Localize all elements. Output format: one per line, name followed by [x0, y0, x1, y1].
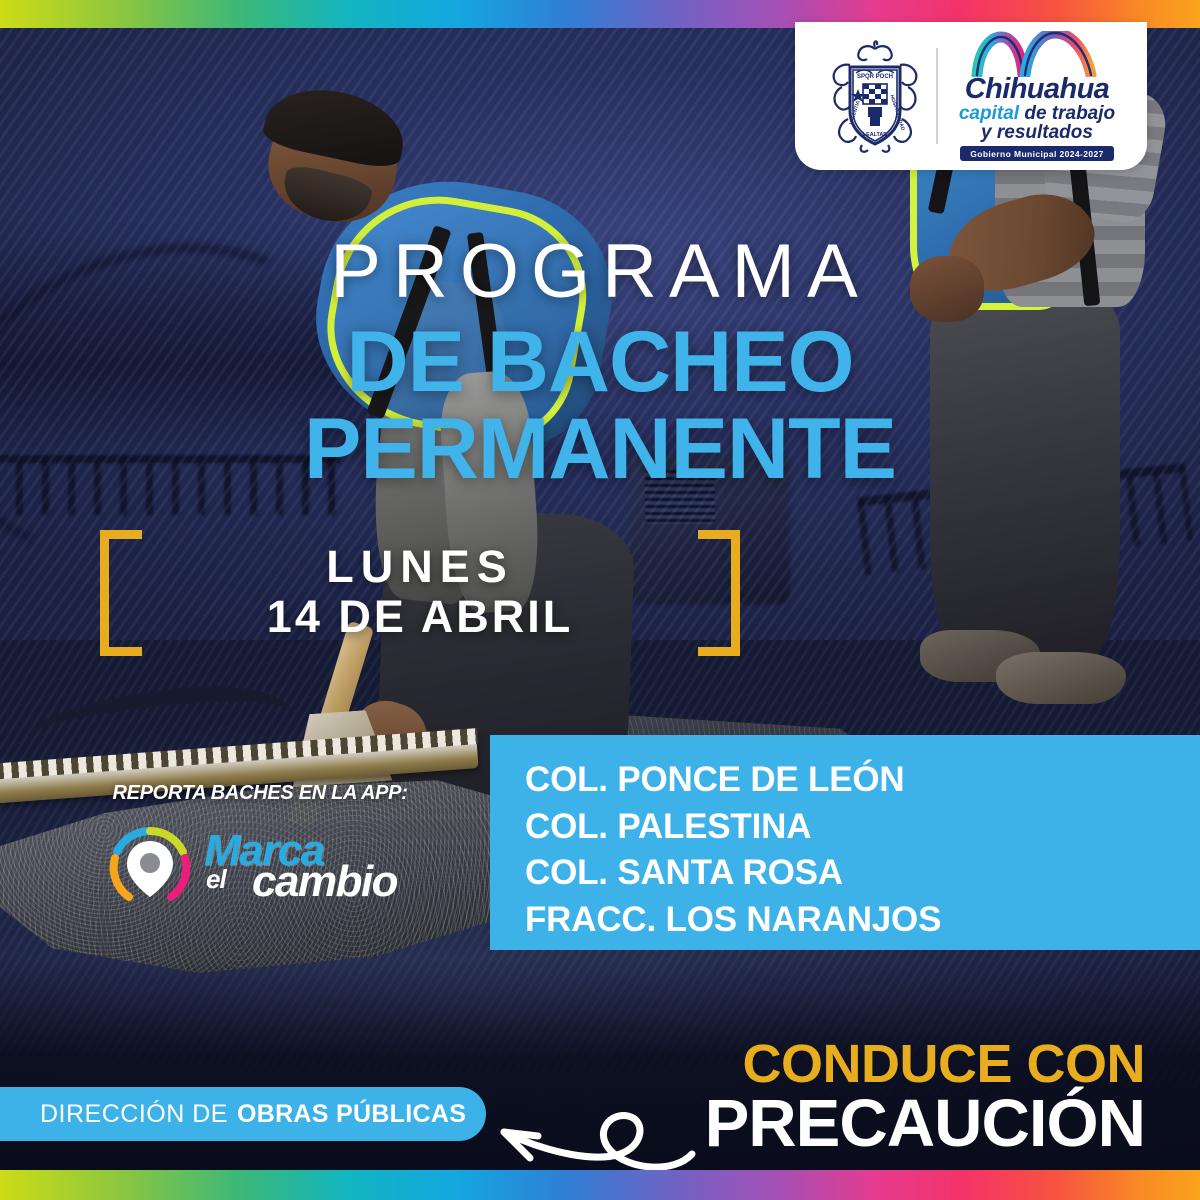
brand-trabajo-word: de trabajo	[1019, 103, 1115, 124]
svg-text:SPQR POCH: SPQR POCH	[857, 74, 893, 80]
marca-el-cambio-wordmark: Marca el cambio	[200, 828, 406, 906]
date-weekday: LUNES	[142, 542, 698, 592]
department-pill: DIRECCIÓN DE OBRAS PÚBLICAS	[0, 1087, 486, 1141]
safety-message-line2: PRECAUCIÓN	[705, 1090, 1145, 1157]
department-label-light: DIRECCIÓN DE	[40, 1100, 228, 1129]
brand-tagline-line3: y resultados	[981, 123, 1093, 142]
location-pin-icon	[108, 825, 192, 909]
worker-right-boot-2	[996, 652, 1126, 704]
department-label-bold: OBRAS PÚBLICAS	[237, 1100, 466, 1129]
svg-text:LEALTAD: LEALTAD	[863, 132, 887, 138]
safety-message-line1: CONDUCE CON	[742, 1037, 1145, 1091]
app-name-cambio: cambio	[252, 857, 397, 907]
list-item: FRACC. LOS NARANJOS	[525, 897, 1200, 944]
colonias-list-panel: COL. PONCE DE LEÓN COL. PALESTINA COL. S…	[490, 735, 1200, 950]
app-report-label: REPORTA BACHES EN LA APP:	[100, 782, 420, 805]
chihuahua-city-crest-icon: SPQR POCH LEALTAD VALENTIA HOSPITALIDAD	[820, 37, 930, 155]
bracket-left-decoration	[100, 530, 142, 656]
app-name-el: el	[206, 864, 226, 895]
title-line-3: PERMANENTE	[0, 400, 1200, 499]
bottom-gradient-bar	[0, 1170, 1200, 1200]
logo-divider	[936, 48, 938, 144]
curly-arrow-left-icon	[460, 1058, 700, 1183]
date-text-group: LUNES 14 DE ABRIL	[142, 542, 698, 643]
bracket-right-decoration	[698, 530, 740, 656]
chihuahua-arches-icon	[969, 31, 1105, 77]
date-block: LUNES 14 DE ABRIL	[100, 530, 740, 660]
list-item: COL. PALESTINA	[525, 804, 1200, 851]
brand-name: Chihuahua	[965, 76, 1109, 104]
brand-tagline-line2: capital de trabajo	[959, 104, 1115, 123]
government-period-tag: Gobierno Municipal 2024-2027	[960, 146, 1114, 161]
brand-capital-word: capital	[959, 103, 1019, 124]
title-line-1: PROGRAMA	[0, 228, 1200, 315]
list-item: COL. PONCE DE LEÓN	[525, 757, 1200, 804]
date-day-month: 14 DE ABRIL	[142, 592, 698, 642]
marca-el-cambio-logo[interactable]: Marca el cambio	[108, 822, 408, 912]
bacheo-program-poster: SPQR POCH LEALTAD VALENTIA HOSPITALIDAD	[0, 0, 1200, 1200]
title-line-2: DE BACHEO	[0, 313, 1200, 412]
list-item: COL. SANTA ROSA	[525, 850, 1200, 897]
government-logo-card: SPQR POCH LEALTAD VALENTIA HOSPITALIDAD	[795, 22, 1147, 170]
chihuahua-brand-lockup: Chihuahua capital de trabajo y resultado…	[952, 31, 1122, 162]
